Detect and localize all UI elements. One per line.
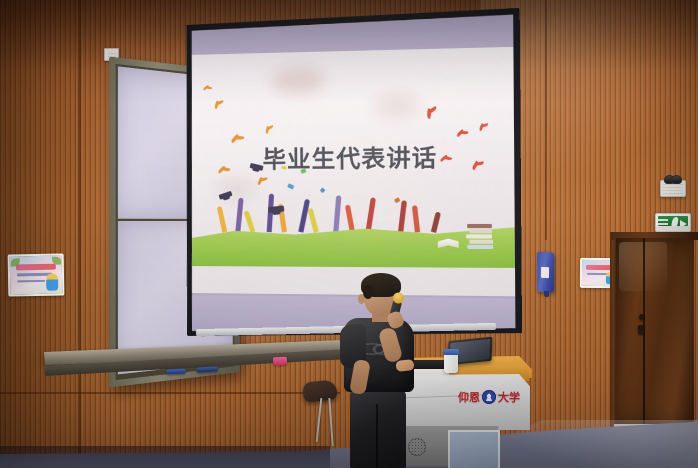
emergency-light-face [663, 184, 683, 194]
raised-hand-12 [398, 200, 407, 232]
water-cup[interactable] [444, 352, 458, 373]
raised-hand-8 [333, 195, 341, 232]
screen-smudge-2 [374, 94, 421, 117]
confetti-5 [394, 197, 401, 203]
raised-hand-10 [366, 197, 376, 232]
raised-hand-11 [375, 208, 387, 232]
raised-hand-1 [217, 205, 227, 232]
exit-sign [655, 213, 691, 232]
university-branding: 仰恩 大学 [458, 388, 522, 406]
microphone-head-icon [392, 291, 405, 304]
dispenser-nozzle [544, 291, 549, 297]
speaker-legs [350, 388, 406, 468]
raised-hand-6 [298, 198, 310, 232]
raised-hand-3 [244, 210, 256, 233]
book-3 [467, 235, 493, 239]
confetti-4 [319, 188, 325, 194]
wall-seam-vertical-2 [545, 0, 547, 240]
book-2 [470, 240, 494, 244]
book-4 [470, 229, 493, 233]
raised-hand-7 [308, 207, 319, 232]
wall-shadow-left [0, 0, 120, 468]
marker-blue-1[interactable] [166, 368, 186, 374]
podium-side-panel [448, 430, 500, 468]
hand-sanitizer-dispenser[interactable] [537, 252, 554, 293]
raised-hand-2 [235, 197, 243, 232]
poster-left-cartoon-figure [46, 273, 58, 290]
poster-left-title-band [16, 263, 56, 271]
exit-sign-base [656, 226, 690, 231]
raised-hand-13 [411, 205, 419, 232]
door-handle-upper[interactable] [639, 314, 644, 320]
confetti-1 [288, 183, 295, 189]
student-speaker [336, 276, 422, 468]
screen-smudge-1 [271, 67, 324, 95]
university-emblem-icon [482, 390, 496, 404]
emergency-lamp-right [671, 175, 682, 184]
emergency-light [660, 180, 686, 197]
raised-hand-9 [344, 204, 354, 232]
floor-shadow [0, 446, 330, 468]
university-name-part-2: 大学 [498, 389, 520, 405]
wall-seam-horizontal [0, 392, 340, 394]
book-stack [461, 222, 498, 249]
book-5 [468, 224, 493, 228]
book-1 [468, 245, 494, 249]
door-handle-lower[interactable] [638, 325, 644, 334]
poster-right-title-band [586, 265, 612, 270]
speaker-leg-split [376, 404, 378, 468]
dispenser-label [541, 267, 549, 279]
slide-canvas: 毕业生代表讲话 [190, 47, 515, 296]
auditorium-photo: 毕业生代表讲话 [0, 0, 698, 468]
wall-seam-vertical [78, 0, 81, 468]
university-name-part-1: 仰恩 [458, 389, 480, 405]
raised-hand-14 [431, 211, 441, 232]
confetti-3 [281, 165, 287, 169]
board-eraser[interactable] [273, 357, 287, 366]
slide-title: 毕业生代表讲话 [191, 137, 515, 175]
poster-left [8, 254, 65, 297]
auditorium-door[interactable] [616, 238, 694, 428]
cup-lid [443, 349, 459, 355]
exit-sign-text [658, 219, 668, 225]
